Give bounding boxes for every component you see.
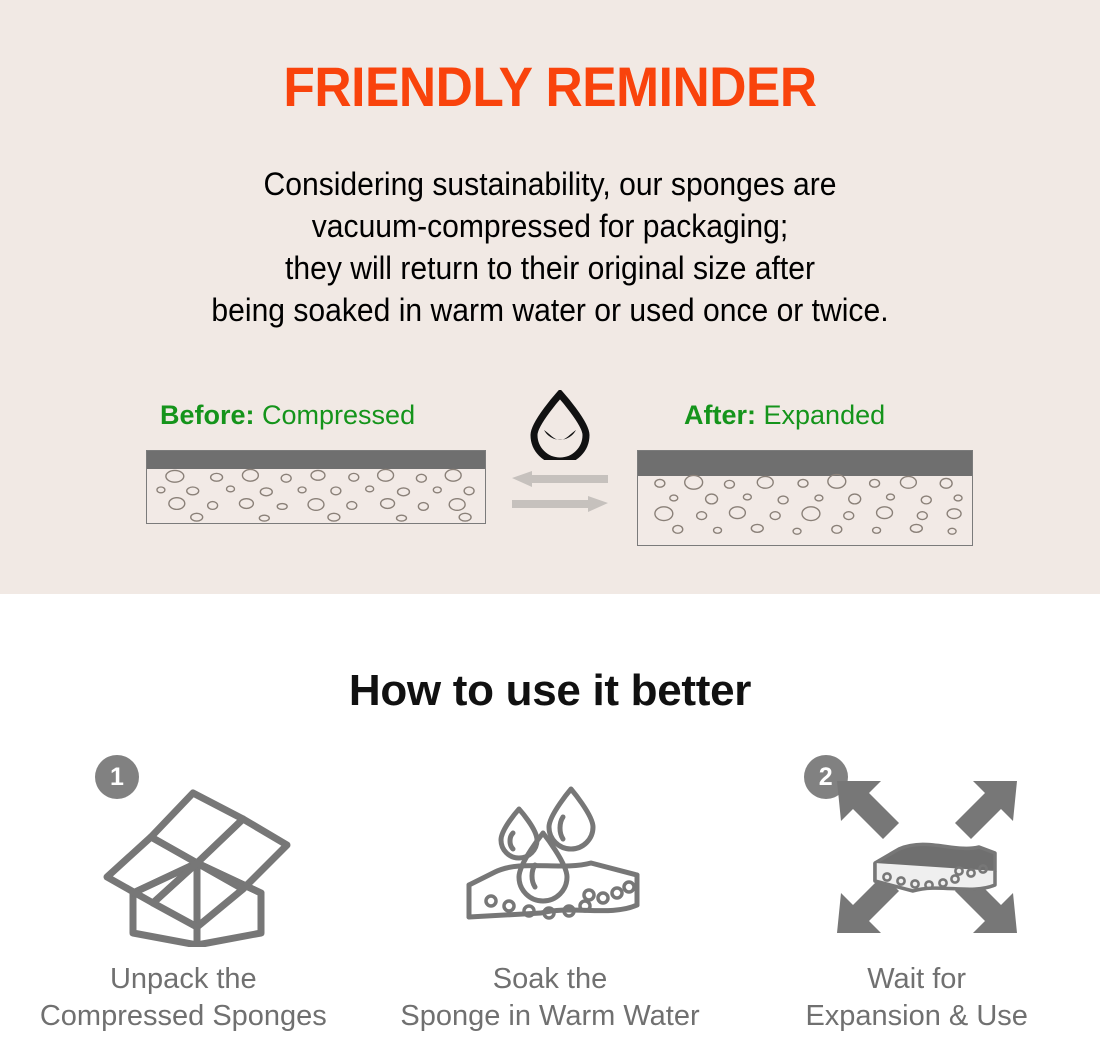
page-title: FRIENDLY REMINDER bbox=[44, 54, 1056, 119]
step-item-soak: 2 bbox=[367, 749, 734, 1039]
step-caption: Wait for Expansion & Use bbox=[733, 961, 1100, 1035]
reminder-body-line: being soaked in warm water or used once … bbox=[33, 289, 1067, 331]
step-illustration bbox=[733, 767, 1100, 947]
expanded-sponge-graphic bbox=[637, 450, 973, 546]
step-caption-line: Expansion & Use bbox=[733, 998, 1100, 1035]
step-caption-line: Wait for bbox=[733, 961, 1100, 998]
open-box-icon bbox=[97, 767, 297, 947]
reminder-body-line: Considering sustainability, our sponges … bbox=[33, 163, 1067, 205]
water-drops-on-sponge-icon bbox=[451, 767, 661, 947]
reminder-body-text: Considering sustainability, our sponges … bbox=[33, 163, 1067, 331]
step-caption-line: Soak the bbox=[367, 961, 734, 998]
section-title: How to use it better bbox=[0, 666, 1100, 716]
step-caption-line: Sponge in Warm Water bbox=[367, 998, 734, 1035]
reminder-body-line: they will return to their original size … bbox=[33, 247, 1067, 289]
expanding-arrows-sponge-icon bbox=[827, 767, 1027, 947]
step-caption-line: Compressed Sponges bbox=[0, 998, 367, 1035]
steps-list: 1 Unpack the Co bbox=[0, 749, 1100, 1039]
step-illustration bbox=[0, 767, 367, 947]
reminder-body-line: vacuum-compressed for packaging; bbox=[33, 205, 1067, 247]
step-caption-line: Unpack the bbox=[0, 961, 367, 998]
step-caption: Unpack the Compressed Sponges bbox=[0, 961, 367, 1035]
sponge-pores-icon bbox=[147, 451, 485, 523]
after-term: After: bbox=[684, 400, 756, 430]
step-item-expand: 3 bbox=[733, 749, 1100, 1039]
step-item-unpack: 1 Unpack the Co bbox=[0, 749, 367, 1039]
before-state: Compressed bbox=[262, 400, 415, 430]
infographic-page: FRIENDLY REMINDER Considering sustainabi… bbox=[0, 0, 1100, 1039]
water-drop-icon bbox=[520, 390, 600, 460]
two-way-arrows-icon bbox=[512, 470, 608, 512]
sponge-pores-icon bbox=[638, 451, 972, 545]
step-caption: Soak the Sponge in Warm Water bbox=[367, 961, 734, 1035]
compressed-sponge-graphic bbox=[146, 450, 486, 524]
how-to-use-section: How to use it better 1 bbox=[0, 594, 1100, 1039]
friendly-reminder-section: FRIENDLY REMINDER Considering sustainabi… bbox=[0, 0, 1100, 594]
after-state: Expanded bbox=[764, 400, 886, 430]
step-illustration bbox=[367, 767, 734, 947]
before-label: Before: Compressed bbox=[160, 400, 415, 431]
after-label: After: Expanded bbox=[684, 400, 885, 431]
before-term: Before: bbox=[160, 400, 255, 430]
